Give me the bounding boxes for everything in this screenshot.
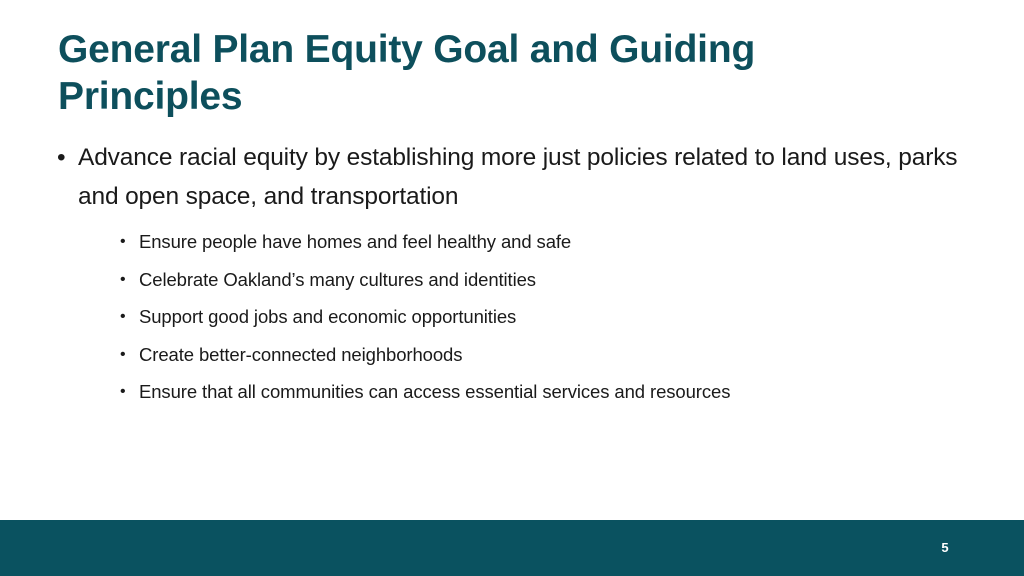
bullet-text-sub-3: Support good jobs and economic opportuni… — [139, 306, 516, 327]
list-item: • Support good jobs and economic opportu… — [120, 298, 968, 336]
slide-body: • Advance racial equity by establishing … — [56, 138, 968, 417]
bullet-text-sub-5: Ensure that all communities can access e… — [139, 381, 730, 402]
bullet-text-primary: Advance racial equity by establishing mo… — [78, 144, 957, 210]
list-item: • Ensure that all communities can access… — [120, 373, 968, 411]
bullet-text-sub-4: Create better-connected neighborhoods — [139, 344, 462, 365]
footer-bar: 5 — [0, 520, 1024, 576]
presentation-slide: General Plan Equity Goal and Guiding Pri… — [0, 0, 1024, 576]
list-item: • Ensure people have homes and feel heal… — [120, 223, 968, 261]
bullet-marker-icon: • — [120, 298, 126, 336]
bullet-list-level-2: • Ensure people have homes and feel heal… — [78, 223, 968, 411]
bullet-marker-icon: • — [120, 336, 126, 374]
list-item: • Celebrate Oakland’s many cultures and … — [120, 261, 968, 299]
list-item: • Create better-connected neighborhoods — [120, 336, 968, 374]
bullet-marker-icon: • — [120, 261, 126, 299]
page-number: 5 — [866, 520, 1024, 576]
bullet-marker-icon: • — [120, 373, 126, 411]
bullet-text-sub-1: Ensure people have homes and feel health… — [139, 231, 571, 252]
page-title: General Plan Equity Goal and Guiding Pri… — [58, 26, 938, 120]
bullet-text-sub-2: Celebrate Oakland’s many cultures and id… — [139, 269, 536, 290]
bullet-marker-icon: • — [57, 138, 65, 177]
bullet-list-level-1: • Advance racial equity by establishing … — [56, 138, 968, 411]
bullet-marker-icon: • — [120, 223, 126, 261]
bullet-item-primary: • Advance racial equity by establishing … — [56, 138, 968, 411]
